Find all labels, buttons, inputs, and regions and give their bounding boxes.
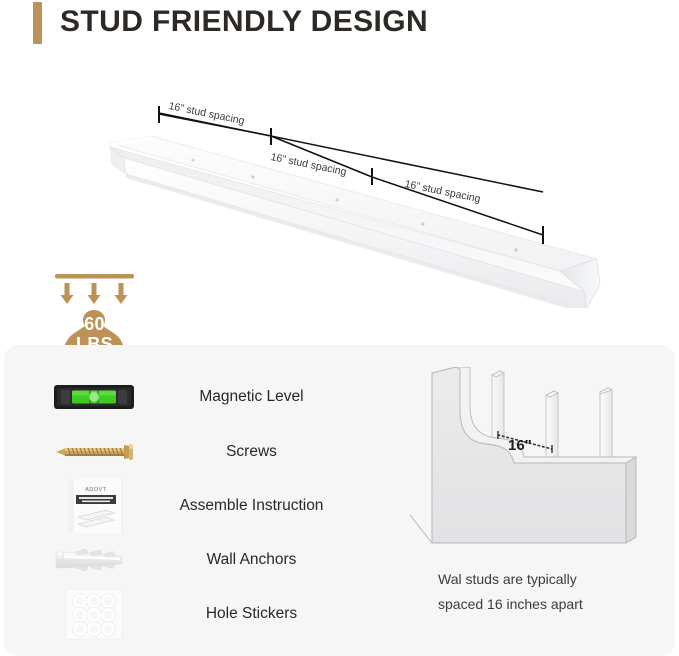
manual-brand-text: ADOVT — [85, 487, 107, 493]
hole-stickers-icon — [52, 587, 148, 641]
magnetic-level-icon — [52, 370, 148, 424]
wall-anchor-icon — [52, 533, 148, 587]
header: STUD FRIENDLY DESIGN — [0, 0, 679, 48]
instruction-manual-icon: ADOVT — [52, 479, 148, 533]
hero-section: 16” stud spacing 16” stud spacing 16” st… — [0, 48, 679, 345]
studs-caption-line-1: Wal studs are typically — [438, 567, 664, 592]
stud-spacing-dimension-line — [0, 48, 679, 308]
accessories-panel: Magnetic Level — [4, 345, 675, 656]
accessory-label: Magnetic Level — [144, 370, 359, 424]
list-item: Hole Stickers — [4, 587, 364, 641]
accessories-list: Magnetic Level — [4, 345, 364, 656]
studs-caption-line-2: spaced 16 inches apart — [438, 592, 664, 617]
wall-cutaway-studs-icon — [394, 367, 664, 577]
accessory-label: Wall Anchors — [144, 533, 359, 587]
studs-dimension-label: 16" — [508, 437, 532, 454]
accessory-label: Assemble Instruction — [144, 479, 359, 533]
accessory-label: Screws — [144, 425, 359, 479]
list-item: ADOVT Assemble Instruction — [4, 479, 364, 533]
accessory-label: Hole Stickers — [144, 587, 359, 641]
list-item: Screws — [4, 425, 364, 479]
screw-icon — [52, 425, 148, 479]
page-title: STUD FRIENDLY DESIGN — [60, 0, 428, 44]
list-item: Wall Anchors — [4, 533, 364, 587]
title-accent-bar — [33, 2, 42, 44]
studs-caption: Wal studs are typically spaced 16 inches… — [394, 567, 664, 617]
list-item: Magnetic Level — [4, 370, 364, 424]
